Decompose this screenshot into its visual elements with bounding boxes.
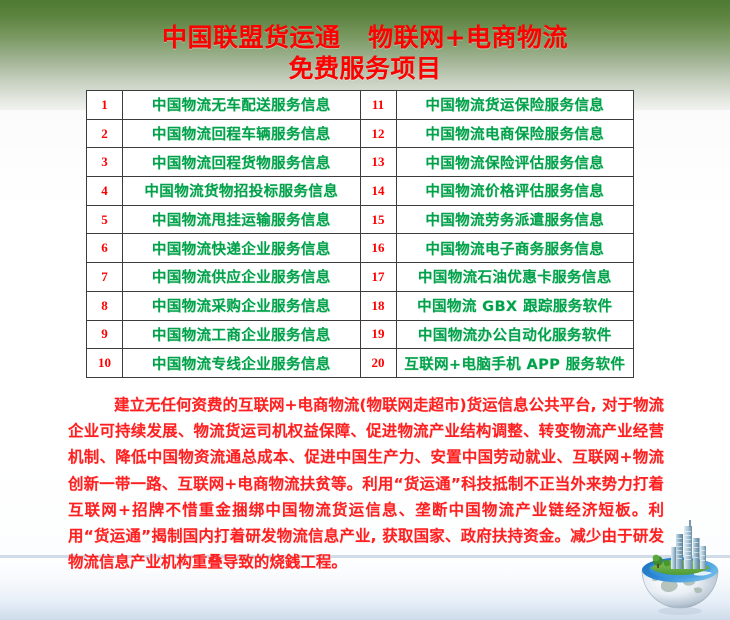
item-number: 14	[360, 177, 396, 206]
table-row: 10中国物流专线企业服务信息20互联网+电脑手机 APP 服务软件	[87, 349, 634, 378]
item-number: 16	[360, 234, 396, 263]
item-label: 互联网+电脑手机 APP 服务软件	[396, 349, 634, 378]
item-number: 2	[87, 119, 123, 148]
item-label: 中国物流劳务派遣服务信息	[396, 205, 634, 234]
item-label: 中国物流石油优惠卡服务信息	[396, 263, 634, 292]
service-items-table: 1中国物流无车配送服务信息11中国物流货运保险服务信息2中国物流回程车辆服务信息…	[86, 90, 633, 378]
page-title: 中国联盟货运通 物联网+电商物流 免费服务项目	[0, 22, 730, 84]
item-label: 中国物流电子商务服务信息	[396, 234, 634, 263]
item-label: 中国物流专线企业服务信息	[123, 349, 361, 378]
item-number: 17	[360, 263, 396, 292]
item-number: 5	[87, 205, 123, 234]
table-row: 7中国物流供应企业服务信息17中国物流石油优惠卡服务信息	[87, 263, 634, 292]
item-number: 11	[360, 91, 396, 120]
title-line-2: 免费服务项目	[0, 53, 730, 84]
item-number: 15	[360, 205, 396, 234]
item-label: 中国物流快递企业服务信息	[123, 234, 361, 263]
item-label: 中国物流 GBX 跟踪服务软件	[396, 291, 634, 320]
item-label: 中国物流回程货物服务信息	[123, 148, 361, 177]
item-label: 中国物流采购企业服务信息	[123, 291, 361, 320]
table-row: 5中国物流甩挂运输服务信息15中国物流劳务派遣服务信息	[87, 205, 634, 234]
table-row: 9中国物流工商企业服务信息19中国物流办公自动化服务软件	[87, 320, 634, 349]
item-number: 20	[360, 349, 396, 378]
item-label: 中国物流保险评估服务信息	[396, 148, 634, 177]
item-label: 中国物流工商企业服务信息	[123, 320, 361, 349]
item-number: 6	[87, 234, 123, 263]
item-number: 18	[360, 291, 396, 320]
description-paragraph: 建立无任何资费的互联网+电商物流(物联网走超市)货运信息公共平台, 对于物流企业…	[68, 392, 664, 575]
table-row: 4中国物流货物招投标服务信息14中国物流价格评估服务信息	[87, 177, 634, 206]
item-number: 19	[360, 320, 396, 349]
item-number: 7	[87, 263, 123, 292]
table-row: 8中国物流采购企业服务信息18中国物流 GBX 跟踪服务软件	[87, 291, 634, 320]
slide-canvas: 中国联盟货运通 物联网+电商物流 免费服务项目 1中国物流无车配送服务信息11中…	[0, 0, 730, 620]
item-label: 中国物流甩挂运输服务信息	[123, 205, 361, 234]
item-number: 3	[87, 148, 123, 177]
item-number: 8	[87, 291, 123, 320]
item-label: 中国物流供应企业服务信息	[123, 263, 361, 292]
item-label: 中国物流办公自动化服务软件	[396, 320, 634, 349]
item-label: 中国物流无车配送服务信息	[123, 91, 361, 120]
item-number: 1	[87, 91, 123, 120]
item-number: 13	[360, 148, 396, 177]
item-number: 4	[87, 177, 123, 206]
item-number: 12	[360, 119, 396, 148]
item-label: 中国物流货运保险服务信息	[396, 91, 634, 120]
table-row: 6中国物流快递企业服务信息16中国物流电子商务服务信息	[87, 234, 634, 263]
title-line-1: 中国联盟货运通 物联网+电商物流	[0, 22, 730, 53]
item-label: 中国物流货物招投标服务信息	[123, 177, 361, 206]
item-number: 10	[87, 349, 123, 378]
table-row: 1中国物流无车配送服务信息11中国物流货运保险服务信息	[87, 91, 634, 120]
globe-city-icon	[632, 516, 728, 616]
item-number: 9	[87, 320, 123, 349]
table-row: 3中国物流回程货物服务信息13中国物流保险评估服务信息	[87, 148, 634, 177]
item-label: 中国物流电商保险服务信息	[396, 119, 634, 148]
item-label: 中国物流回程车辆服务信息	[123, 119, 361, 148]
item-label: 中国物流价格评估服务信息	[396, 177, 634, 206]
table-row: 2中国物流回程车辆服务信息12中国物流电商保险服务信息	[87, 119, 634, 148]
